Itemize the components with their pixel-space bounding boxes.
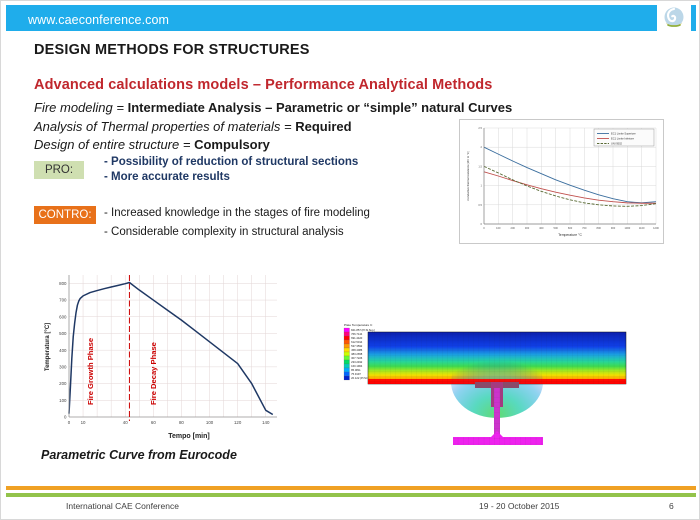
- contro-badge: CONTRO:: [34, 206, 96, 224]
- svg-text:120: 120: [234, 420, 242, 425]
- chart-x-axis-label: Temperature °C: [558, 233, 582, 237]
- svg-text:100: 100: [206, 420, 214, 425]
- footer-orange-rule: [6, 486, 696, 490]
- phase-annotation-label: Fire Growth Phase: [86, 338, 95, 405]
- svg-text:1000: 1000: [624, 226, 630, 230]
- svg-text:140: 140: [262, 420, 270, 425]
- definition-term: Analysis of Thermal properties of materi…: [34, 119, 280, 134]
- fem-legend-value: 383.2658: [351, 352, 363, 356]
- svg-text:800: 800: [597, 226, 602, 230]
- contro-item: - Considerable complexity in structural …: [104, 223, 370, 242]
- svg-text:600: 600: [568, 226, 573, 230]
- svg-text:500: 500: [554, 226, 559, 230]
- header-url[interactable]: www.caeconference.com: [28, 13, 169, 27]
- svg-text:300: 300: [59, 364, 67, 369]
- chart-legend-label: EC1 Limite Superiore: [611, 132, 636, 136]
- svg-text:2.5: 2.5: [478, 126, 482, 130]
- svg-text:300: 300: [525, 226, 530, 230]
- slide: www.caeconference.com DESIGN METHODS FOR…: [0, 0, 700, 520]
- svg-text:700: 700: [59, 298, 67, 303]
- svg-text:100: 100: [59, 398, 67, 403]
- svg-text:1.5: 1.5: [478, 164, 482, 168]
- fem-legend-value: 75.9197: [351, 372, 361, 376]
- svg-text:0.5: 0.5: [478, 203, 482, 207]
- fem-legend-value: 612.5014: [351, 340, 363, 344]
- chart-legend-label: EC1 Limite Inferiore: [611, 137, 634, 141]
- contro-item: - Increased knowledge in the stages of f…: [104, 204, 370, 223]
- svg-text:100: 100: [496, 226, 501, 230]
- chart-y-tick-labels: 0100200300400500600700800: [59, 281, 67, 420]
- svg-text:200: 200: [59, 381, 67, 386]
- definition-value: Intermediate Analysis – Parametric or “s…: [128, 100, 513, 115]
- definition-term: Design of entire structure: [34, 137, 179, 152]
- chart-legend-label: UNI 9502: [611, 142, 623, 146]
- svg-text:900: 900: [611, 226, 616, 230]
- svg-text:500: 500: [59, 331, 67, 336]
- fem-legend-value: 841.857 (Pl.Sl.Sup.): [351, 328, 375, 332]
- page-subtitle: Advanced calculations models – Performan…: [34, 77, 492, 93]
- page-title: DESIGN METHODS FOR STRUCTURES: [34, 42, 310, 58]
- svg-text:1200: 1200: [653, 226, 659, 230]
- svg-text:60: 60: [151, 420, 156, 425]
- cae-conference-logo-icon: [657, 5, 691, 31]
- footer-date: 19 - 20 October 2015: [479, 501, 559, 511]
- pro-item: - Possibility of reduction of structural…: [104, 155, 358, 170]
- definition-row: Fire modeling = Intermediate Analysis – …: [34, 99, 554, 118]
- parametric-curve-svg: 010406080100120140 010020030040050060070…: [39, 265, 287, 445]
- phase-annotation-label: Fire Decay Phase: [149, 342, 158, 405]
- pro-item: - More accurate results: [104, 170, 358, 185]
- chart-legend: EC1 Limite SuperioreEC1 Limite Inferiore…: [594, 129, 654, 146]
- parametric-curve-chart: 010406080100120140 010020030040050060070…: [39, 265, 287, 445]
- fem-legend-value: 233.2492: [351, 360, 363, 364]
- svg-text:400: 400: [539, 226, 544, 230]
- svg-text:700: 700: [582, 226, 587, 230]
- definition-equals: =: [179, 137, 194, 152]
- definition-equals: =: [113, 100, 128, 115]
- pro-badge: PRO:: [34, 161, 84, 179]
- pro-list: - Possibility of reduction of structural…: [104, 155, 358, 185]
- svg-text:600: 600: [59, 314, 67, 319]
- contro-list: - Increased knowledge in the stages of f…: [104, 204, 370, 242]
- thermal-contour-svg: Plate Temperature C 841.857 (Pl.Sl.Sup.)…: [333, 319, 663, 469]
- svg-text:1100: 1100: [639, 226, 645, 230]
- svg-text:200: 200: [511, 226, 516, 230]
- fem-legend-value: 537.3592: [351, 344, 363, 348]
- svg-text:10: 10: [81, 420, 86, 425]
- thermal-contour-plot: Plate Temperature C 841.857 (Pl.Sl.Sup.)…: [333, 319, 663, 469]
- svg-text:80: 80: [179, 420, 184, 425]
- thermal-conductivity-chart: 0100200300400500600700800900100011001200…: [459, 119, 664, 244]
- fem-legend-value: 85.0811: [351, 368, 361, 372]
- fem-legend-value: 691.4420: [351, 336, 363, 340]
- footer-green-rule: [6, 493, 696, 497]
- parametric-curve-caption: Parametric Curve from Eurocode: [41, 448, 237, 462]
- fem-legend-value: 766.7144: [351, 332, 363, 336]
- fem-legend-value: 458.4086: [351, 348, 363, 352]
- definition-value: Required: [295, 119, 351, 134]
- fem-legend-value: 160.1964: [351, 364, 363, 368]
- footer-page-number: 6: [669, 501, 674, 511]
- svg-text:40: 40: [123, 420, 128, 425]
- fem-legend-value: 307.7226: [351, 356, 363, 360]
- definition-value: Compulsory: [194, 137, 270, 152]
- svg-text:400: 400: [59, 348, 67, 353]
- definition-term: Fire modeling: [34, 100, 113, 115]
- header-bar: www.caeconference.com: [6, 5, 696, 31]
- thermal-conductivity-chart-svg: 0100200300400500600700800900100011001200…: [460, 120, 663, 243]
- fem-legend-title: Plate Temperature C: [344, 323, 373, 327]
- svg-text:800: 800: [59, 281, 67, 286]
- definition-equals: =: [280, 119, 295, 134]
- chart-y-axis-label: Temperatura [°C]: [45, 323, 51, 371]
- chart-x-axis-label: Tempo [min]: [168, 433, 209, 440]
- footer-conference-name: International CAE Conference: [66, 501, 179, 511]
- chart-y-axis-label: Conductive thermal resistance [W / m °C]: [466, 151, 470, 200]
